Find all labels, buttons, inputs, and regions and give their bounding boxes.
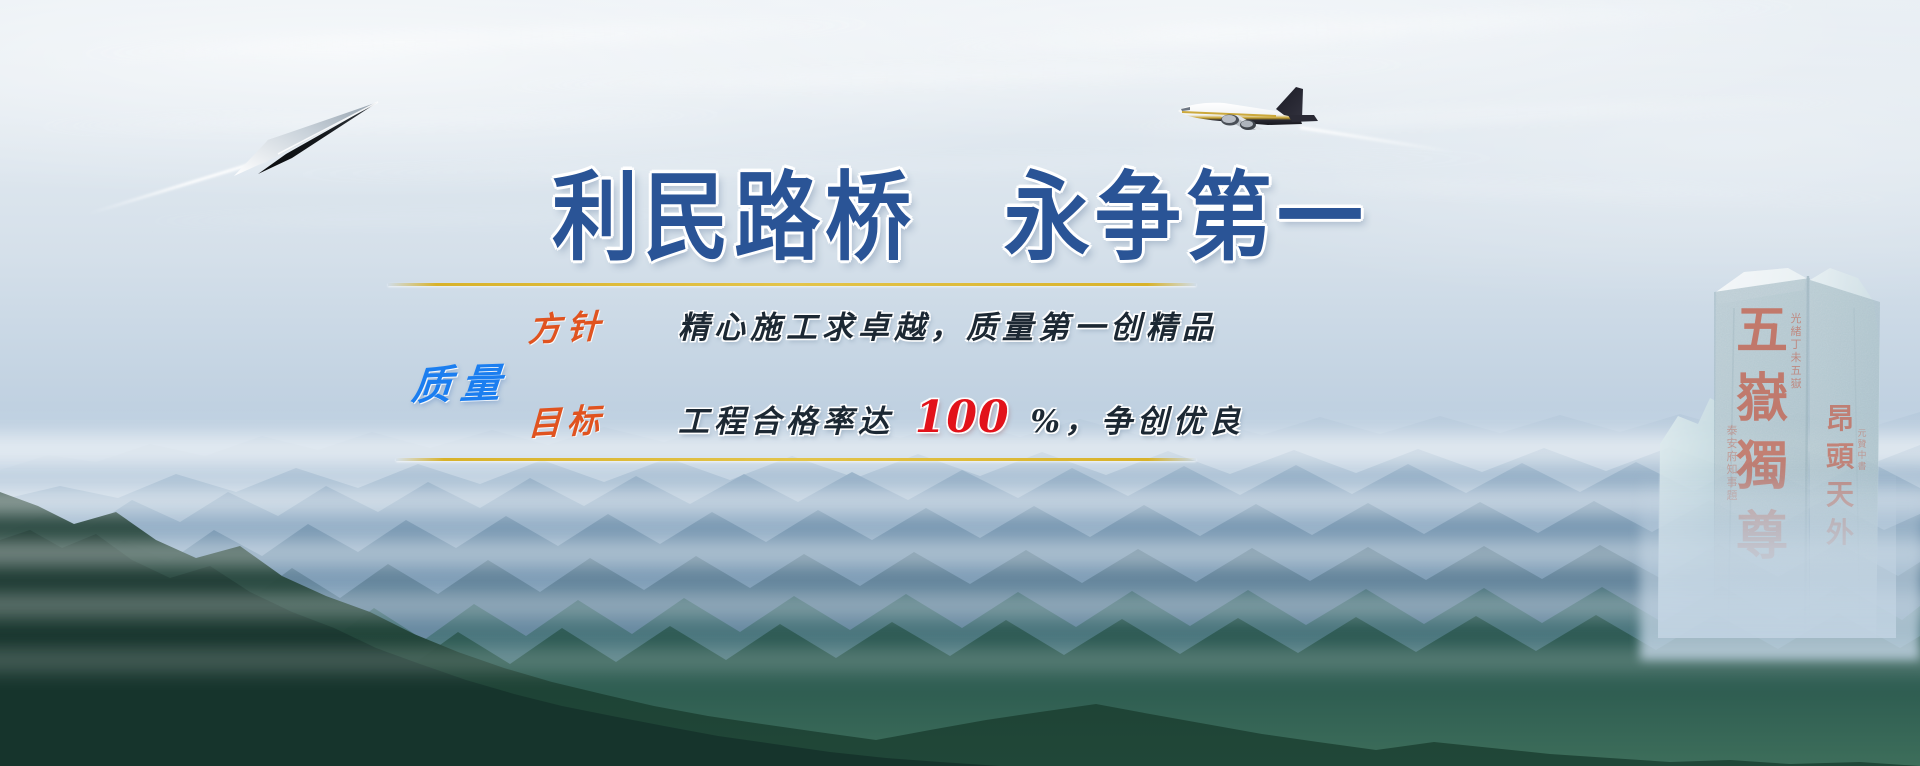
headline-part-1: 利民路桥 [552, 165, 916, 273]
svg-text:緒: 緒 [1791, 324, 1802, 338]
policy-keyword: 方针 [527, 297, 657, 352]
policy-phrase: 精心施工求卓越，质量第一创精品 [678, 302, 1218, 347]
svg-text:五: 五 [1791, 364, 1802, 377]
divider-bottom [396, 458, 1196, 461]
hero-banner: 五 嶽 獨 尊 昂 頭 天 外 光緒 丁未 五嶽 泰安 府知 事題 元贊 [0, 0, 1920, 766]
target-phrase-after: %，争创优良 [1030, 404, 1244, 440]
svg-text:安: 安 [1727, 436, 1738, 450]
target-phrase: 工程合格率达 100 %，争创优良 [678, 392, 1245, 443]
airplane-icon [1172, 85, 1322, 143]
target-phrase-before: 工程合格率达 [678, 404, 894, 440]
svg-text:泰: 泰 [1727, 423, 1738, 437]
svg-text:嶽: 嶽 [1736, 368, 1788, 429]
page-title: 利民路桥 永争第一 [0, 168, 1920, 269]
svg-text:五: 五 [1736, 300, 1788, 361]
svg-text:未: 未 [1791, 351, 1802, 364]
slogan-row-target: 目标 工程合格率达 100 %，争创优良 [528, 392, 1245, 443]
target-keyword: 目标 [527, 391, 657, 446]
target-highlight-value: 100 [910, 392, 1015, 443]
svg-text:光: 光 [1791, 311, 1802, 325]
svg-text:贊: 贊 [1857, 438, 1866, 450]
slogan-row-policy: 方针 精心施工求卓越，质量第一创精品 [528, 300, 1218, 348]
svg-text:丁: 丁 [1791, 338, 1802, 351]
svg-text:元: 元 [1857, 429, 1866, 439]
svg-text:昂: 昂 [1826, 402, 1854, 435]
stone-monument-icon: 五 嶽 獨 尊 昂 頭 天 外 光緒 丁未 五嶽 泰安 府知 事題 元贊 [1658, 238, 1896, 638]
divider-top [388, 283, 1196, 286]
headline-part-2: 永争第一 [1004, 165, 1368, 273]
policy-phrase-text: 精心施工求卓越，质量第一创精品 [678, 310, 1218, 346]
quality-keyword: 质量 [409, 350, 512, 412]
svg-text:嶽: 嶽 [1791, 377, 1802, 390]
